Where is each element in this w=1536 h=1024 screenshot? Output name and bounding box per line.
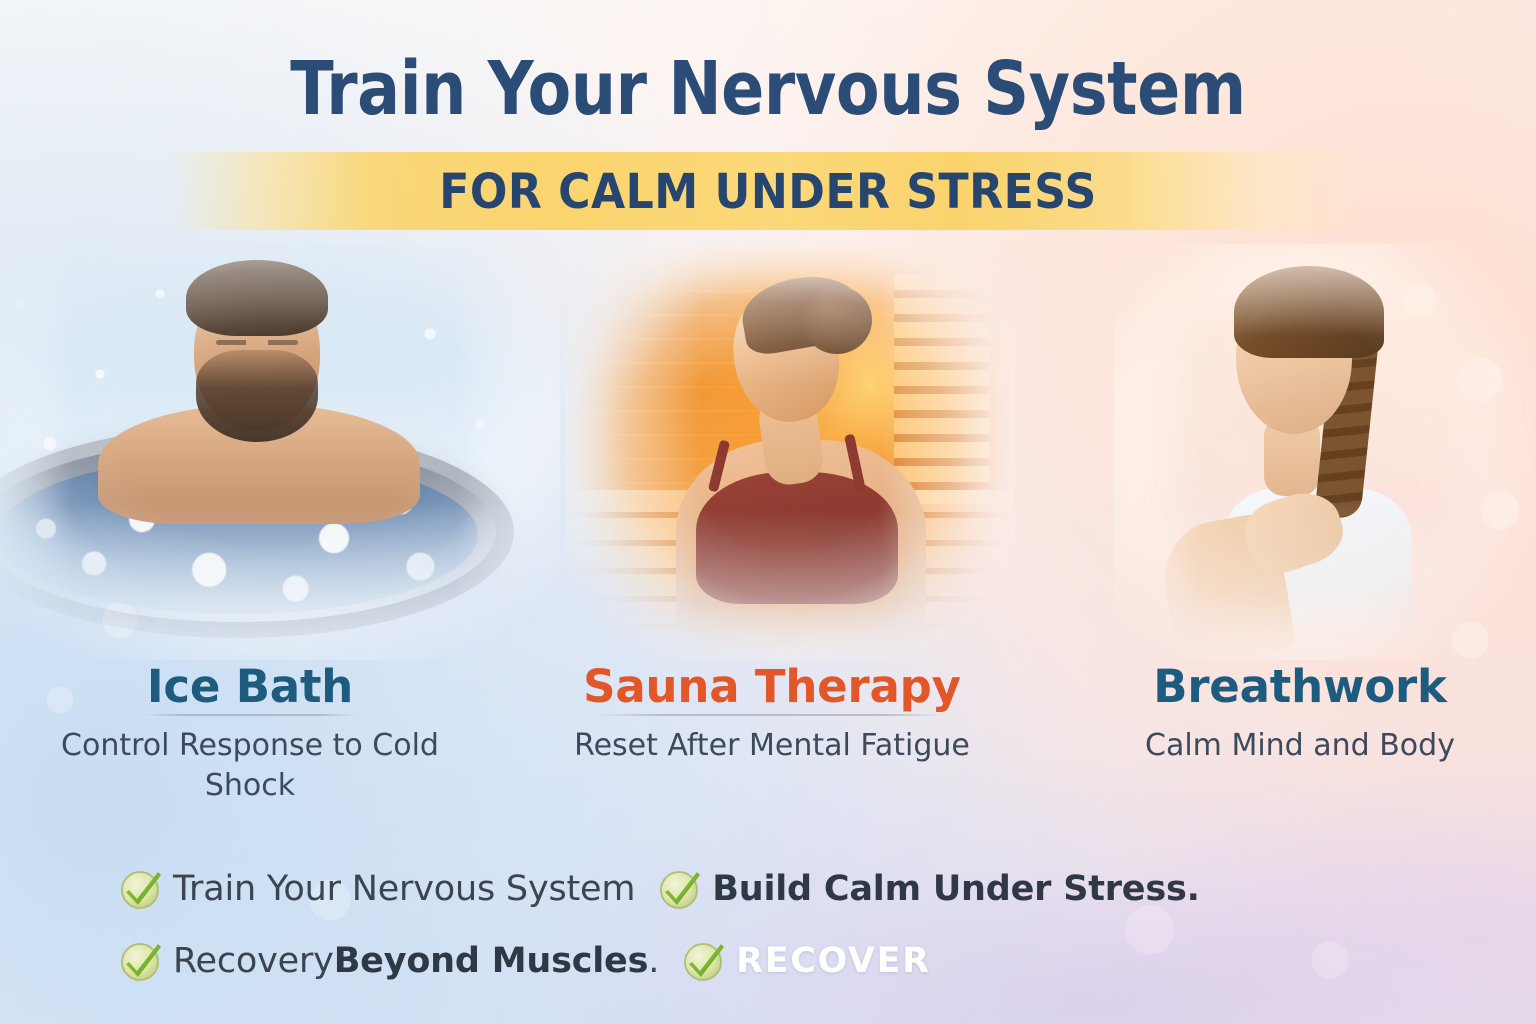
sauna-edge-fade: [566, 244, 1014, 660]
card-subtitle-sauna-therapy: Reset After Mental Fatigue: [536, 726, 1008, 766]
card-title-ice-bath: Ice Bath: [40, 660, 460, 713]
sauna-photo: [566, 244, 1014, 660]
checklist-row-1: Train Your Nervous System Build Calm Und…: [118, 866, 1200, 912]
checklist-label-1a: Train Your Nervous System: [173, 869, 635, 909]
card-subtitle-breathwork: Calm Mind and Body: [1086, 726, 1514, 766]
card-rule-sauna-therapy: [597, 714, 947, 716]
checklist-item-recover: RECOVER: [681, 938, 931, 984]
card-rule-ice-bath: [145, 714, 357, 716]
card-title-sauna-therapy: Sauna Therapy: [556, 660, 988, 713]
ice-bath-photo: [0, 244, 560, 660]
checklist-label-2a-tail: .: [648, 941, 659, 981]
checklist-row-2: Recovery Beyond Muscles . RECOVER: [118, 938, 931, 984]
checklist-label-2b: RECOVER: [736, 941, 931, 981]
page-subtitle: FOR CALM UNDER STRESS: [61, 164, 1474, 220]
checklist-item-build-calm: Build Calm Under Stress.: [657, 866, 1199, 912]
green-check-circle-icon: [118, 938, 164, 984]
breathwork-photo: [1114, 244, 1534, 660]
poster-canvas: Train Your Nervous System FOR CALM UNDER…: [0, 0, 1536, 1024]
checklist-label-1b: Build Calm Under Stress.: [712, 869, 1199, 909]
checklist-label-2a-plain: Recovery: [173, 941, 334, 981]
checklist-item-train-nervous-system: Train Your Nervous System: [118, 866, 635, 912]
card-subtitle-ice-bath: Control Response to Cold Shock: [40, 726, 460, 805]
green-check-circle-icon: [681, 938, 727, 984]
ice-edge-fade: [0, 244, 560, 660]
checklist-label-2a-bold: Beyond Muscles: [334, 941, 649, 981]
breath-edge-fade: [1114, 244, 1534, 660]
page-title: Train Your Nervous System: [108, 46, 1429, 132]
green-check-circle-icon: [118, 866, 164, 912]
card-title-breathwork: Breathwork: [1090, 660, 1510, 713]
green-check-circle-icon: [657, 866, 703, 912]
checklist-item-recovery-beyond-muscles: Recovery Beyond Muscles .: [118, 938, 659, 984]
